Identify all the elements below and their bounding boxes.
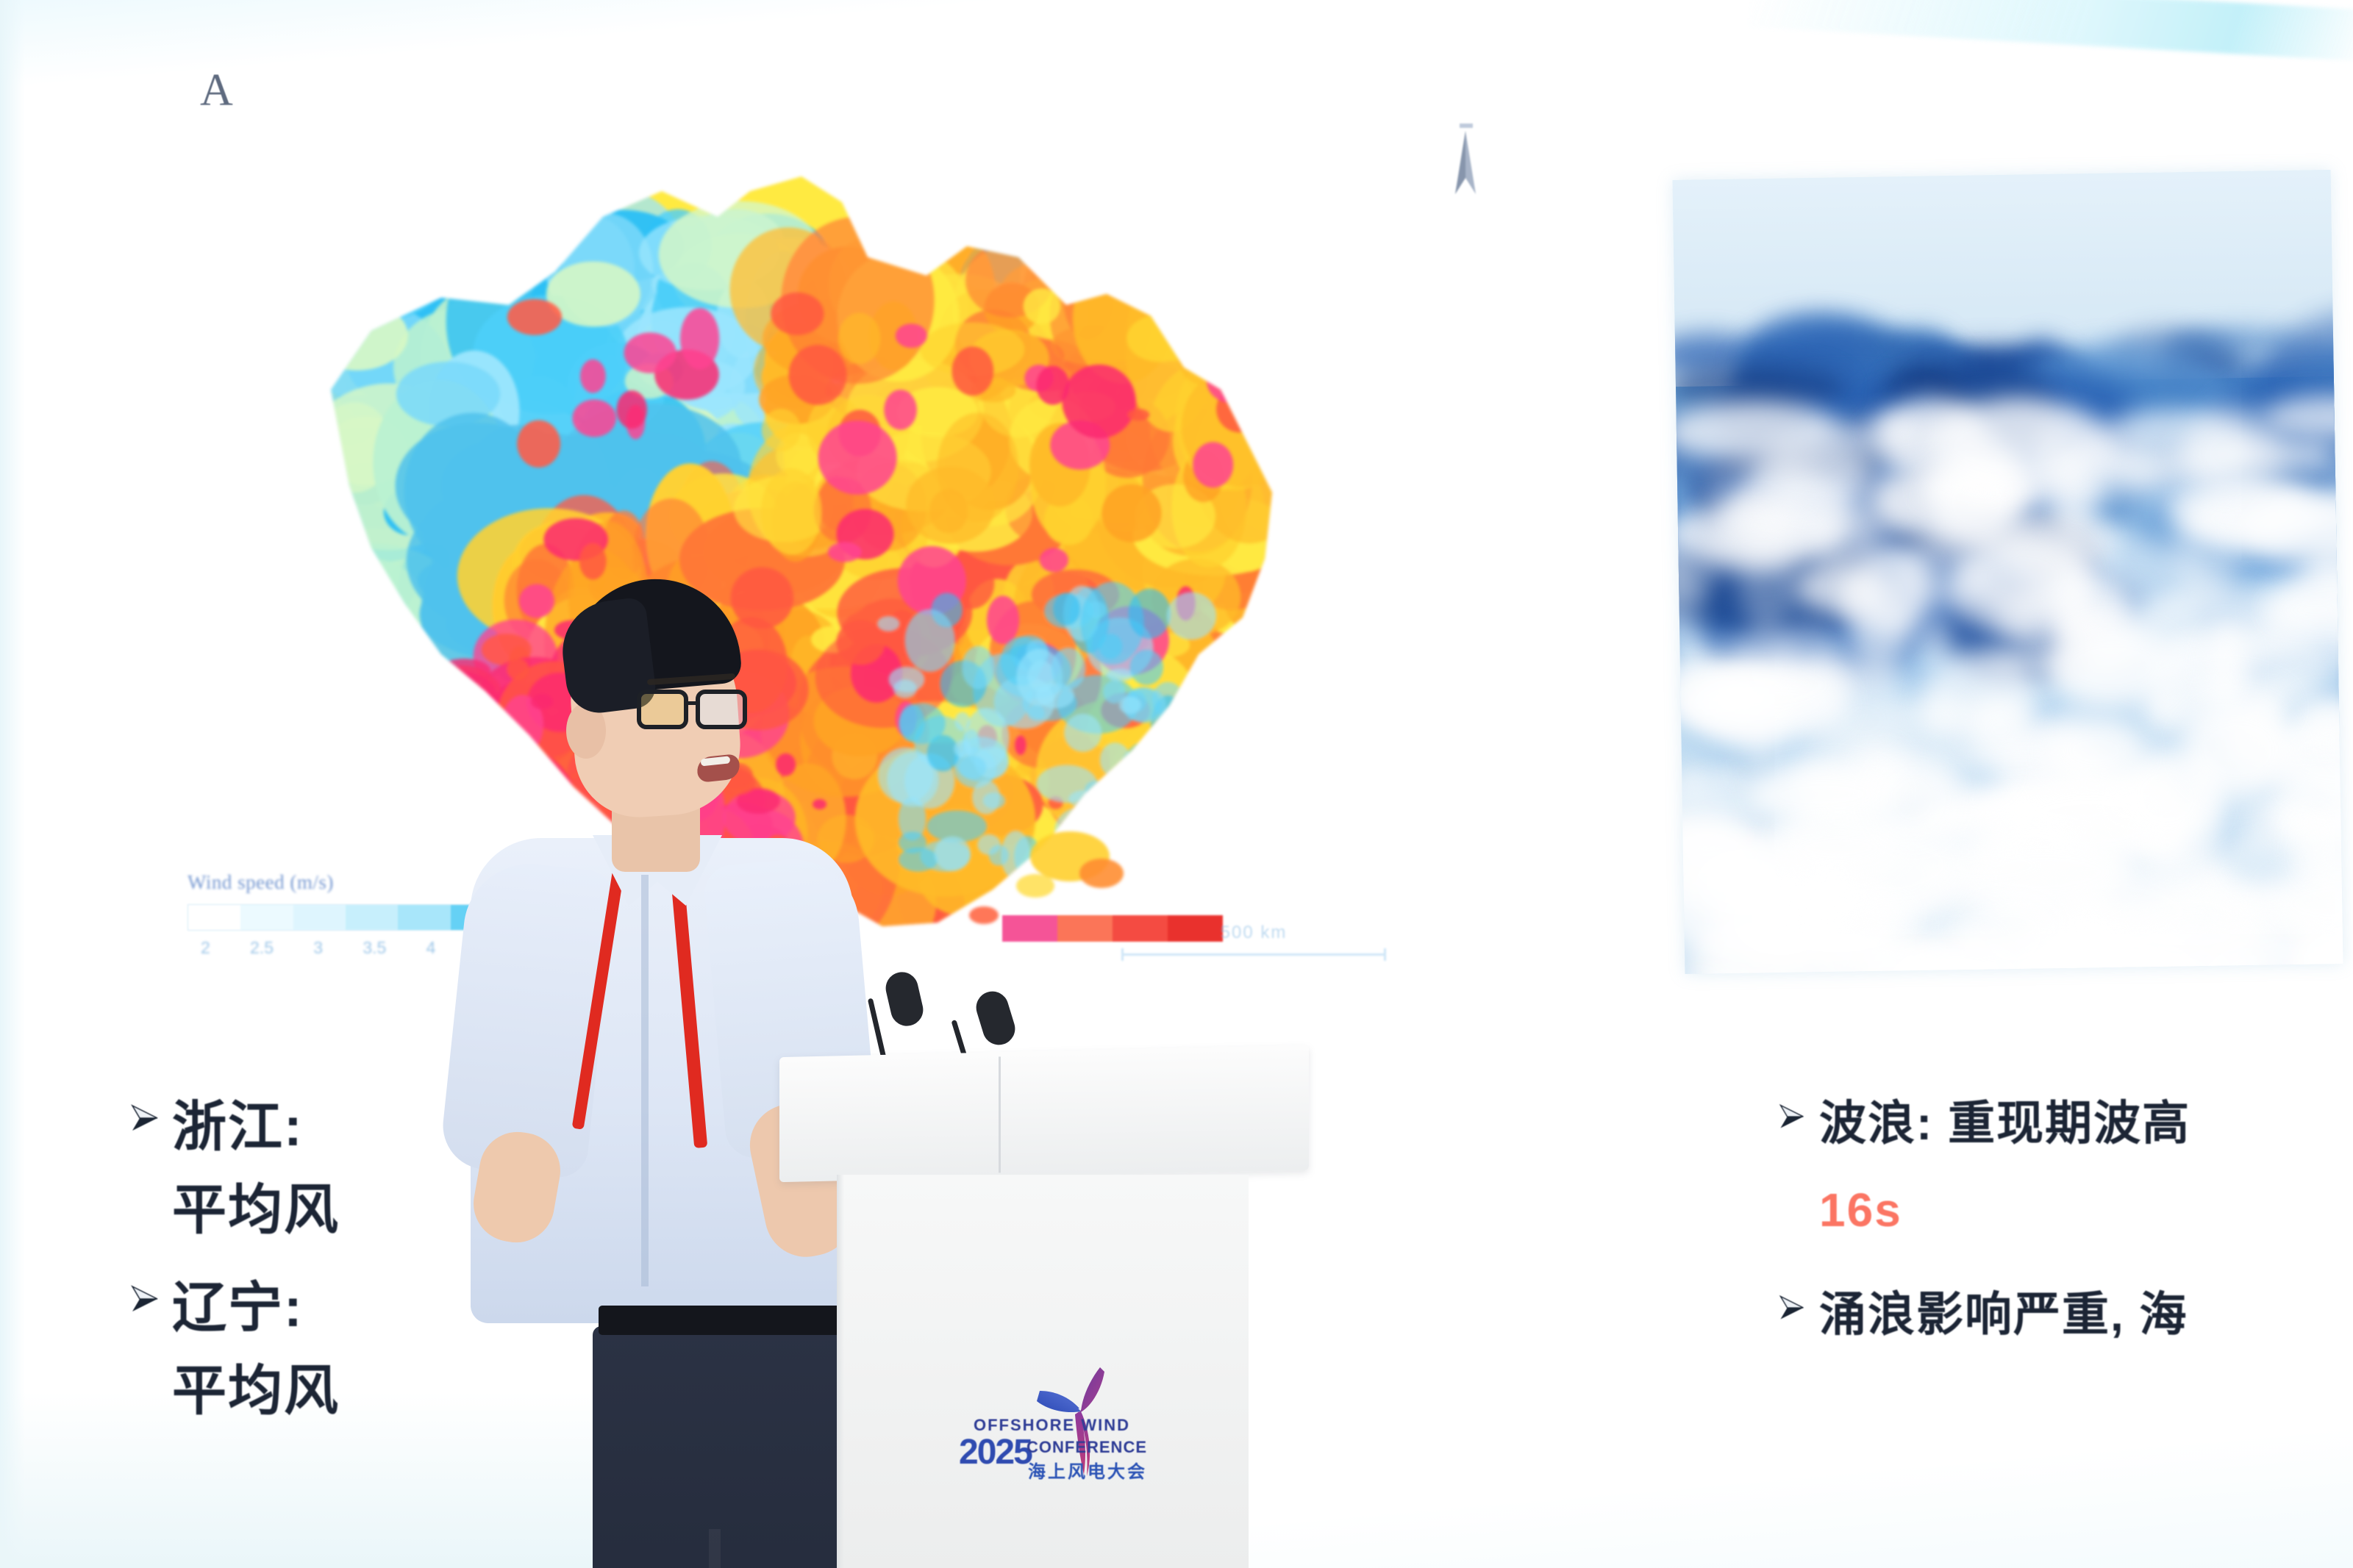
map-cell	[1154, 792, 1179, 820]
podium-edge-shadow	[837, 1175, 844, 1568]
logo-year: 2025	[959, 1432, 1032, 1472]
map-cell	[762, 409, 801, 451]
map-cell	[906, 467, 995, 544]
bullet-item: 波浪: 重现期波高	[1765, 1088, 2353, 1159]
map-cell	[1188, 269, 1223, 318]
map-cell	[1119, 696, 1141, 714]
map-cell	[972, 780, 1000, 814]
speaker-shirt-placket	[641, 875, 649, 1286]
map-cell	[1201, 258, 1280, 326]
map-cell	[1085, 781, 1108, 798]
map-cell	[1218, 784, 1240, 810]
map-cell	[1183, 683, 1265, 775]
speaker-trouser-seam	[709, 1529, 721, 1568]
map-cell	[1193, 442, 1233, 487]
legend-tick: 3	[290, 938, 346, 958]
bullet-arrow-icon	[1765, 1088, 1819, 1132]
wave-foam	[1733, 623, 1796, 711]
screen-left-edge	[0, 0, 25, 1568]
map-cell	[1129, 180, 1257, 332]
map-cell	[1105, 215, 1138, 247]
legend-tick: 2.5	[234, 938, 290, 958]
map-cell	[617, 390, 647, 429]
legend-tick: 3.5	[346, 938, 403, 958]
map-cell	[1099, 773, 1138, 812]
map-cell	[1216, 385, 1263, 432]
map-cell	[899, 704, 945, 744]
map-cell	[771, 293, 824, 335]
map-cell	[1132, 233, 1196, 300]
map-cell	[1107, 785, 1197, 870]
map-cell	[1165, 848, 1190, 862]
map-cell	[761, 468, 822, 555]
map-cell	[1108, 776, 1156, 856]
map-cell	[1073, 254, 1174, 384]
legend-swatch	[1002, 915, 1057, 942]
screen-sheen	[1749, 0, 2353, 61]
map-cell	[305, 301, 408, 370]
map-cell	[1156, 840, 1238, 913]
wave-foam	[2224, 970, 2335, 974]
map-cell	[1121, 772, 1179, 822]
map-cell	[1053, 593, 1080, 625]
map-cell	[1227, 382, 1243, 399]
map-cell	[1156, 720, 1221, 772]
presentation-scene: A Wind speed (m/s) 22.533.544.5 500 km	[0, 0, 2353, 1568]
map-cell	[1130, 650, 1163, 685]
map-cell	[1159, 777, 1303, 901]
map-cell	[987, 595, 1019, 644]
scale-bar-label: 500 km	[1121, 923, 1386, 943]
map-cell	[1199, 198, 1252, 259]
map-cell	[1100, 742, 1130, 777]
map-cell	[935, 837, 971, 871]
map-cell	[1156, 229, 1281, 323]
map-cell	[1040, 548, 1068, 572]
eyeglass-lens-right	[696, 690, 747, 729]
speaker-eyeglasses	[637, 690, 747, 731]
map-cell	[1207, 359, 1259, 404]
map-cell	[954, 740, 971, 758]
map-cell	[1086, 759, 1226, 913]
map-cell	[507, 299, 562, 335]
map-cell	[1167, 593, 1216, 640]
map-island	[969, 906, 999, 924]
map-cell	[828, 542, 862, 562]
wave-foam	[1955, 931, 1995, 962]
map-cell	[896, 323, 927, 348]
map-cell	[1167, 260, 1216, 284]
north-arrow-icon	[1443, 123, 1488, 212]
map-cell	[1129, 589, 1171, 639]
logo-chinese-name: 海上风电大会	[1028, 1457, 1147, 1483]
map-island	[1079, 859, 1124, 888]
map-cell	[1111, 815, 1179, 871]
map-cell	[1127, 803, 1303, 887]
wave-foam	[1865, 751, 1962, 848]
podium-top-seam	[999, 1056, 1001, 1173]
map-cell	[624, 332, 676, 373]
map-cell	[838, 313, 881, 365]
conference-logo: OFFSHORE WIND 2025 CONFERENCE 海上风电大会	[963, 1338, 1147, 1485]
map-cell	[951, 346, 993, 395]
bullet-highlight-value: 16s	[1765, 1175, 2353, 1245]
bullet-text: 波浪: 重现期波高	[1819, 1088, 2190, 1159]
map-cell	[1036, 366, 1069, 405]
speaking-podium: OFFSHORE WIND 2025 CONFERENCE 海上风电大会	[779, 1051, 1309, 1568]
map-cell	[1205, 722, 1265, 759]
map-cell	[1113, 756, 1162, 818]
map-cell	[1119, 810, 1183, 868]
podium-top-surface	[779, 1045, 1309, 1182]
wave-foam	[2338, 588, 2343, 676]
map-cell	[1177, 682, 1241, 754]
ocean-wave-photo	[1673, 170, 2343, 974]
bullet-arrow-icon	[118, 1269, 172, 1316]
bullet-text: 涌浪影响严重, 海	[1819, 1279, 2188, 1350]
map-cell	[369, 229, 417, 287]
map-cell	[1164, 869, 1254, 921]
wave-foam	[2295, 809, 2335, 869]
map-cell	[1099, 634, 1122, 659]
map-cell	[413, 215, 451, 274]
bullet-item: 涌浪影响严重, 海	[1765, 1279, 2353, 1350]
bullet-list-right: 波浪: 重现期波高 16s 涌浪影响严重, 海	[1765, 1088, 2353, 1356]
map-cell	[1168, 780, 1222, 815]
map-cell	[1101, 484, 1161, 543]
map-scale-bar: 500 km	[1121, 923, 1386, 956]
map-cell	[1126, 315, 1193, 362]
map-cell	[435, 218, 565, 290]
map-cell	[1207, 259, 1259, 313]
map-cell	[1051, 648, 1086, 690]
map-cell	[1184, 329, 1259, 369]
map-cell	[1127, 409, 1149, 420]
map-cell	[1027, 705, 1045, 721]
map-cell	[1181, 831, 1196, 846]
map-cell	[1115, 805, 1154, 870]
wave-foam	[1915, 695, 1964, 738]
map-cell	[1174, 252, 1265, 347]
legend-tick: 2	[177, 938, 234, 958]
map-cell	[1083, 193, 1192, 269]
scale-bar-line	[1121, 953, 1386, 956]
map-cell	[1156, 759, 1282, 908]
legend-swatch	[293, 905, 346, 930]
map-cell	[1175, 301, 1227, 384]
logo-line-2: CONFERENCE	[1026, 1438, 1147, 1457]
legend-swatch	[346, 905, 398, 930]
map-cell	[1138, 815, 1188, 858]
map-cell	[1146, 822, 1211, 889]
map-cell	[1180, 309, 1268, 371]
map-cell	[1131, 762, 1182, 795]
map-cell	[1103, 756, 1220, 917]
map-cell	[905, 609, 955, 672]
map-cell	[989, 845, 1009, 865]
eyeglass-lens-left	[637, 690, 688, 729]
map-cell	[818, 420, 897, 495]
panel-label-a: A	[200, 65, 234, 117]
map-cell	[1024, 288, 1060, 323]
map-cell	[1064, 714, 1101, 752]
map-cell	[580, 359, 606, 393]
map-cell	[789, 345, 847, 405]
map-cell	[1123, 226, 1247, 298]
map-cell	[884, 390, 917, 430]
map-cell	[1068, 790, 1101, 808]
map-cell	[318, 220, 448, 320]
map-cell	[1173, 790, 1246, 845]
map-cell	[1068, 890, 1119, 914]
map-cell	[1107, 668, 1134, 681]
map-cell	[962, 646, 995, 690]
map-cell	[572, 399, 616, 437]
map-cell	[305, 194, 453, 298]
map-cell	[419, 229, 457, 278]
map-cell	[1151, 218, 1252, 316]
map-cell	[680, 308, 719, 369]
eyeglass-bridge	[688, 701, 698, 705]
map-cell	[517, 420, 560, 468]
map-cell	[1030, 217, 1100, 283]
map-cell	[380, 249, 441, 301]
legend-swatch	[188, 905, 240, 930]
map-cell	[1185, 815, 1254, 870]
map-cell	[433, 253, 510, 294]
bullet-arrow-icon	[1765, 1279, 1819, 1323]
map-cell	[1174, 271, 1266, 374]
legend-swatch	[240, 905, 293, 930]
map-cell	[1140, 806, 1194, 904]
map-cell	[1135, 186, 1218, 296]
map-cell	[1219, 258, 1277, 332]
map-cell	[1122, 770, 1214, 842]
map-cell	[1133, 186, 1274, 309]
map-cell	[959, 756, 987, 779]
bullet-arrow-icon	[118, 1088, 172, 1135]
map-island	[1016, 874, 1054, 898]
map-cell	[328, 251, 391, 305]
map-cell	[1176, 244, 1256, 321]
legend-swatch	[1057, 915, 1113, 942]
map-cell	[1015, 735, 1026, 755]
map-cell	[1214, 237, 1252, 264]
map-cell	[1219, 851, 1238, 869]
map-cell	[1194, 681, 1234, 701]
map-cell	[1063, 365, 1136, 439]
map-cell	[899, 831, 926, 853]
